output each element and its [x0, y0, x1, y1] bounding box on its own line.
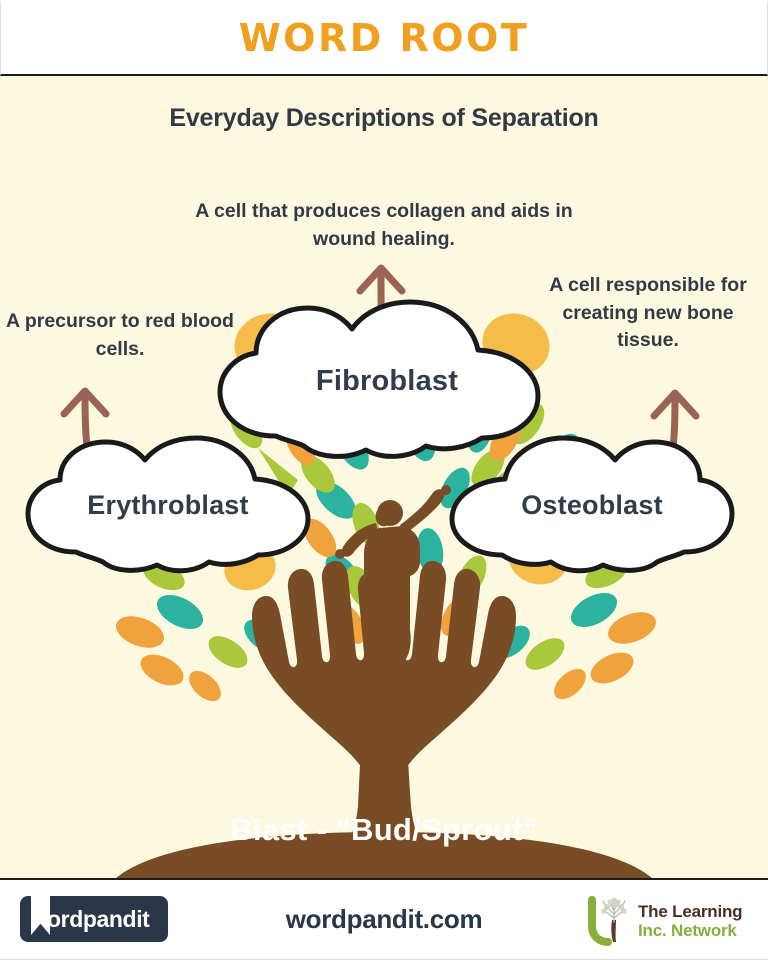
partner-logo-line2: Inc. Network	[638, 921, 742, 940]
description-fibroblast: A cell that produces collagen and aids i…	[184, 198, 584, 253]
learning-inc-network-logo[interactable]: The Learning Inc. Network	[582, 896, 754, 946]
cloud-bubble-osteoblast[interactable]: Osteoblast	[446, 434, 738, 576]
description-osteoblast: A cell responsible for creating new bone…	[532, 272, 764, 355]
description-erythroblast: A precursor to red blood cells.	[4, 308, 236, 363]
base-banner-text: Blast - "Bud/Sprout"	[0, 812, 768, 848]
footer-bar: ordpandit wordpandit.com	[0, 878, 768, 960]
infographic-page: WORD ROOT Everyday Descriptions of Separ…	[0, 0, 768, 960]
partner-logo-line1: The Learning	[638, 902, 742, 921]
page-title: WORD ROOT	[239, 16, 530, 60]
tree-logo-icon	[582, 896, 638, 946]
header-bar: WORD ROOT	[0, 0, 768, 76]
cloud-bubble-erythroblast[interactable]: Erythroblast	[22, 434, 314, 576]
